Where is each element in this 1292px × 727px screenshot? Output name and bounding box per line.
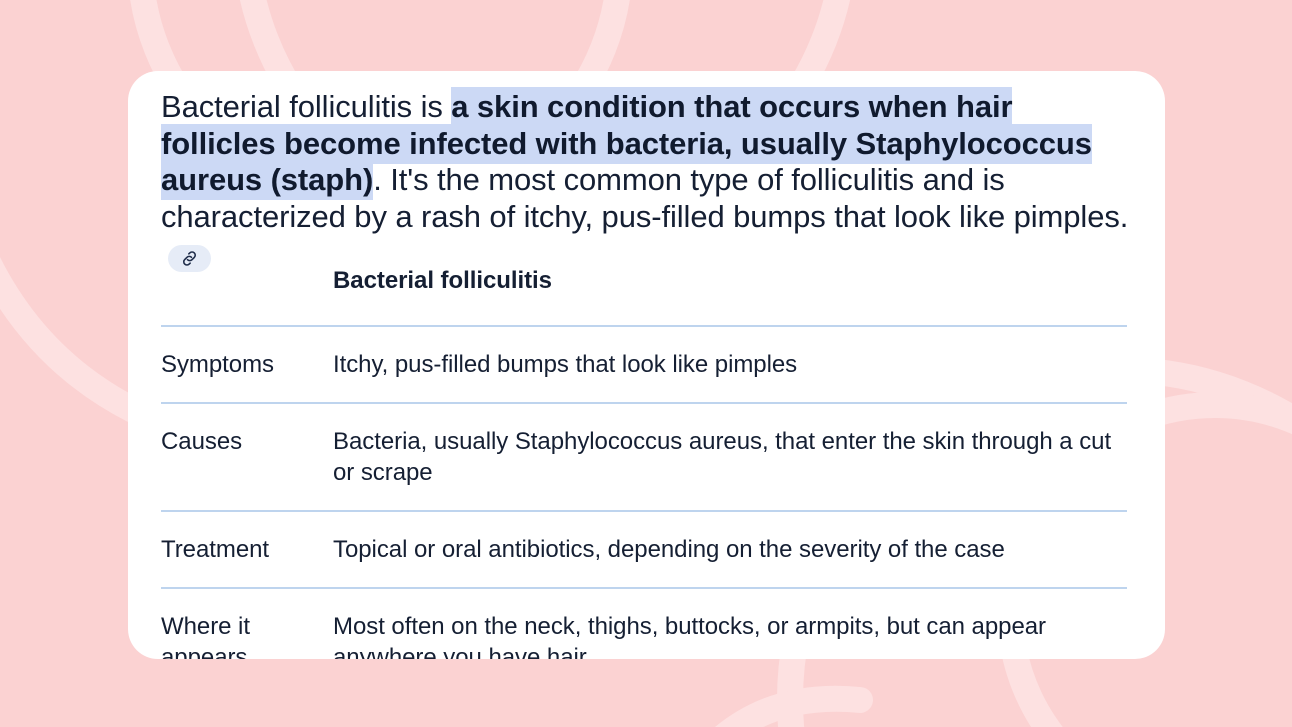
answer-card: Bacterial folliculitis is a skin conditi… [128, 71, 1165, 659]
table-row: Symptoms Itchy, pus-filled bumps that lo… [161, 326, 1127, 403]
table-row: Treatment Topical or oral antibiotics, d… [161, 511, 1127, 588]
table-header-row: Bacterial folliculitis [161, 265, 1127, 326]
row-value-symptoms: Itchy, pus-filled bumps that look like p… [333, 326, 1127, 403]
row-value-treatment: Topical or oral antibiotics, depending o… [333, 511, 1127, 588]
row-label-treatment: Treatment [161, 511, 333, 588]
row-label-where-it-appears: Where it appears [161, 588, 333, 659]
summary-paragraph: Bacterial folliculitis is a skin conditi… [161, 89, 1131, 272]
summary-lead-text: Bacterial folliculitis is [161, 89, 451, 124]
condition-comparison-table: Bacterial folliculitis Symptoms Itchy, p… [161, 265, 1127, 659]
row-label-symptoms: Symptoms [161, 326, 333, 403]
table-row: Where it appears Most often on the neck,… [161, 588, 1127, 659]
table-header: Bacterial folliculitis [161, 265, 1127, 326]
decor-arc-bottom-center [700, 699, 860, 727]
table-header-blank [161, 265, 333, 326]
row-label-causes: Causes [161, 403, 333, 511]
table-header-condition: Bacterial folliculitis [333, 265, 1127, 326]
row-value-causes: Bacteria, usually Staphylococcus aureus,… [333, 403, 1127, 511]
table-row: Causes Bacteria, usually Staphylococcus … [161, 403, 1127, 511]
row-value-where-it-appears: Most often on the neck, thighs, buttocks… [333, 588, 1127, 659]
table-body: Symptoms Itchy, pus-filled bumps that lo… [161, 326, 1127, 659]
